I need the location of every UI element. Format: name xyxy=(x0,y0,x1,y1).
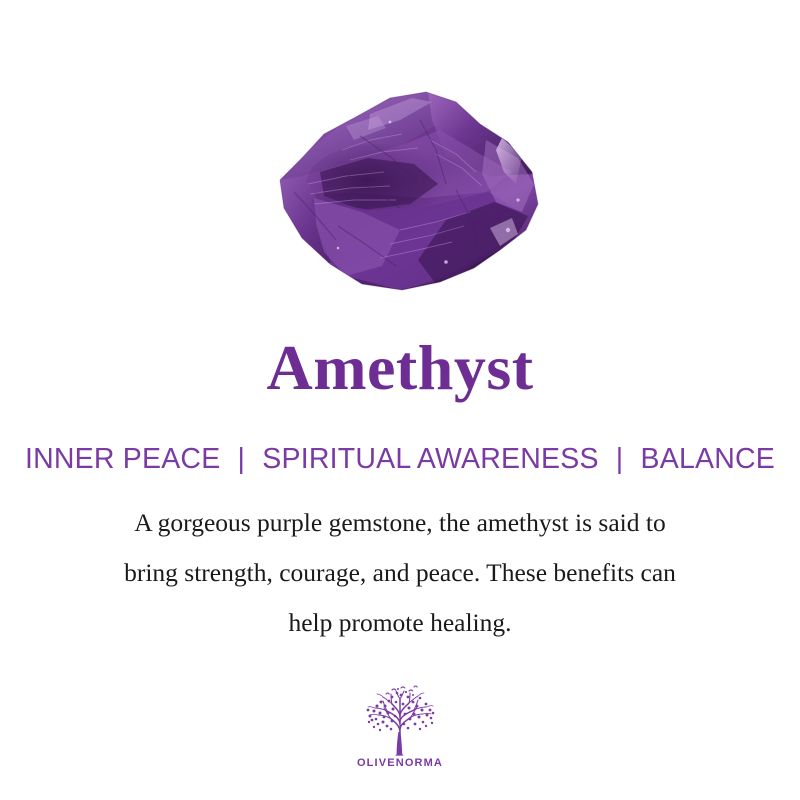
brand-name: OLIVENORMA xyxy=(357,757,443,769)
description-line: bring strength, courage, and peace. Thes… xyxy=(50,548,750,598)
keyword-inner-peace: INNER PEACE xyxy=(25,443,220,475)
description-line: A gorgeous purple gemstone, the amethyst… xyxy=(50,498,750,548)
description-line: help promote healing. xyxy=(50,598,750,648)
amethyst-crystal-image xyxy=(0,78,800,303)
product-card: Amethyst INNER PEACE | SPIRITUAL AWARENE… xyxy=(0,0,800,800)
keyword-separator: | xyxy=(229,442,255,476)
keyword-separator: | xyxy=(607,442,633,476)
brand-logo: OLIVENORMA xyxy=(0,684,800,769)
page-title: Amethyst xyxy=(0,336,800,400)
keyword-balance: BALANCE xyxy=(641,443,775,475)
amethyst-crystal-graphic xyxy=(250,80,550,302)
tree-icon xyxy=(357,684,443,756)
keyword-spiritual-awareness: SPIRITUAL AWARENESS xyxy=(262,443,598,475)
product-description: A gorgeous purple gemstone, the amethyst… xyxy=(50,498,750,648)
keyword-list: INNER PEACE | SPIRITUAL AWARENESS | BALA… xyxy=(0,442,800,476)
